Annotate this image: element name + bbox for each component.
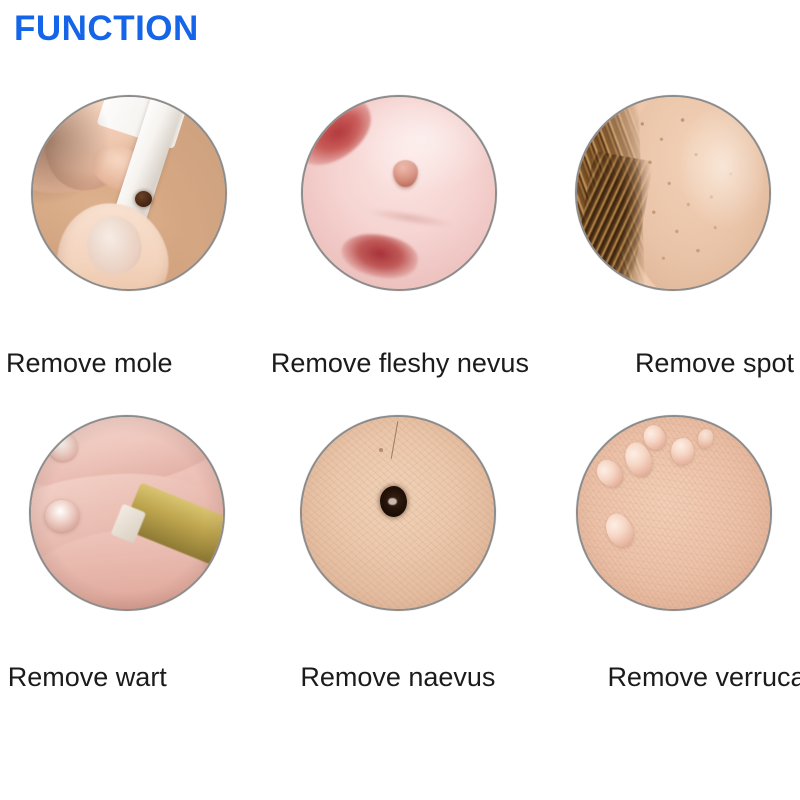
item-label: Remove spot bbox=[581, 347, 800, 379]
function-item-remove-naevus: Remove naevus bbox=[267, 415, 534, 735]
function-item-remove-fleshy-nevus: Remove fleshy nevus bbox=[267, 95, 534, 415]
photo-frame bbox=[267, 415, 534, 660]
photo-remove-naevus bbox=[300, 415, 496, 611]
photo-remove-fleshy-nevus bbox=[301, 95, 497, 291]
item-label: Remove verruca bbox=[573, 661, 800, 693]
vignette-layer bbox=[302, 417, 494, 609]
photo-frame bbox=[533, 95, 800, 340]
item-label: Remove wart bbox=[0, 661, 221, 693]
function-row-bottom: Remove wart Remove naevus bbox=[0, 415, 800, 735]
page-title: FUNCTION bbox=[14, 9, 199, 49]
item-label: Remove naevus bbox=[265, 661, 532, 693]
highlight-layer bbox=[303, 97, 495, 289]
highlight-layer bbox=[577, 97, 769, 289]
photo-remove-wart bbox=[29, 415, 225, 611]
function-item-remove-wart: Remove wart bbox=[0, 415, 267, 735]
item-label: Remove fleshy nevus bbox=[267, 347, 534, 379]
function-row-top: Remove mole Remove fleshy nevus bbox=[0, 95, 800, 415]
photo-frame bbox=[267, 95, 534, 340]
vignette-layer bbox=[578, 417, 770, 609]
item-label: Remove mole bbox=[0, 347, 223, 379]
photo-frame bbox=[0, 415, 267, 660]
edge-shadow-layer bbox=[33, 97, 225, 289]
photo-remove-spot bbox=[575, 95, 771, 291]
photo-frame bbox=[0, 95, 267, 340]
photo-frame bbox=[533, 415, 800, 660]
function-item-remove-spot: Remove spot bbox=[533, 95, 800, 415]
function-item-remove-mole: Remove mole bbox=[0, 95, 267, 415]
function-grid: Remove mole Remove fleshy nevus bbox=[0, 95, 800, 735]
function-item-remove-verruca: Remove verruca bbox=[533, 415, 800, 735]
vignette-layer bbox=[31, 417, 223, 609]
photo-remove-verruca bbox=[576, 415, 772, 611]
photo-remove-mole bbox=[31, 95, 227, 291]
